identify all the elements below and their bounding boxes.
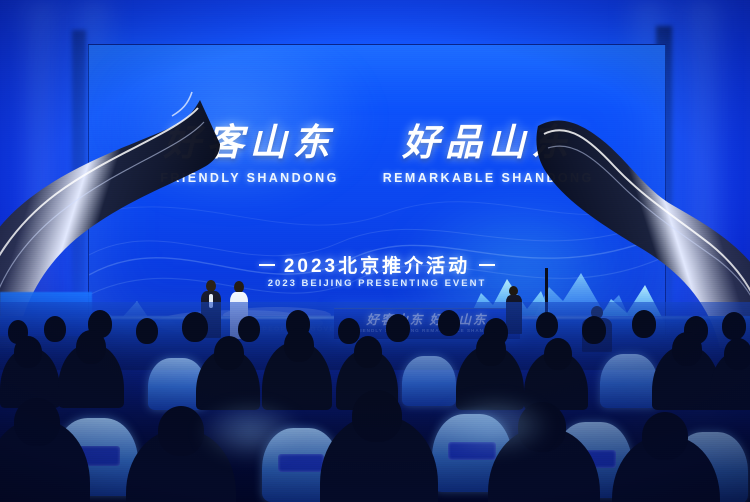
audience-head <box>136 318 158 344</box>
audience-head <box>672 332 702 366</box>
headline-right: 好品山东 REMARKABLE SHANDONG <box>383 125 594 185</box>
audience-head <box>518 402 566 452</box>
audience-head <box>338 318 360 344</box>
audience-head <box>238 316 260 342</box>
audience-head <box>544 338 572 370</box>
chair-back-plate <box>448 442 496 460</box>
audience-head <box>476 332 506 366</box>
audience-head <box>438 310 460 336</box>
headline-left-en: FRIENDLY SHANDONG <box>160 171 338 185</box>
audience-head <box>642 412 688 460</box>
headline-right-cn: 好品山东 <box>383 125 594 162</box>
audience-head <box>536 312 558 338</box>
audience-head <box>386 314 410 342</box>
audience-head <box>354 336 382 368</box>
stage-photo: 好客山东 FRIENDLY SHANDONG 好品山东 REMARKABLE S… <box>0 0 750 502</box>
led-headline-row: 好客山东 FRIENDLY SHANDONG 好品山东 REMARKABLE S… <box>89 125 665 185</box>
audience-head <box>632 310 656 338</box>
audience-chair <box>402 356 456 406</box>
audience-head <box>14 398 60 446</box>
led-screen: 好客山东 FRIENDLY SHANDONG 好品山东 REMARKABLE S… <box>88 44 666 336</box>
audience-head <box>352 390 402 442</box>
audience-head <box>44 316 66 342</box>
audience-head <box>214 336 244 370</box>
audience-head <box>158 406 204 456</box>
headline-left-cn: 好客山东 <box>160 125 338 162</box>
audience-chair <box>600 354 658 408</box>
audience-head <box>76 330 106 364</box>
audience-head <box>284 328 314 362</box>
audience-head <box>14 336 42 368</box>
headline-left: 好客山东 FRIENDLY SHANDONG <box>160 125 338 185</box>
audience-area <box>0 302 750 502</box>
audience-head <box>182 312 208 342</box>
chair-back-plate <box>278 454 324 472</box>
stage-pillar-left <box>72 30 86 330</box>
audience-head <box>724 338 750 370</box>
audience-head <box>582 316 606 344</box>
headline-right-en: REMARKABLE SHANDONG <box>383 171 594 185</box>
audience-head <box>722 312 746 340</box>
